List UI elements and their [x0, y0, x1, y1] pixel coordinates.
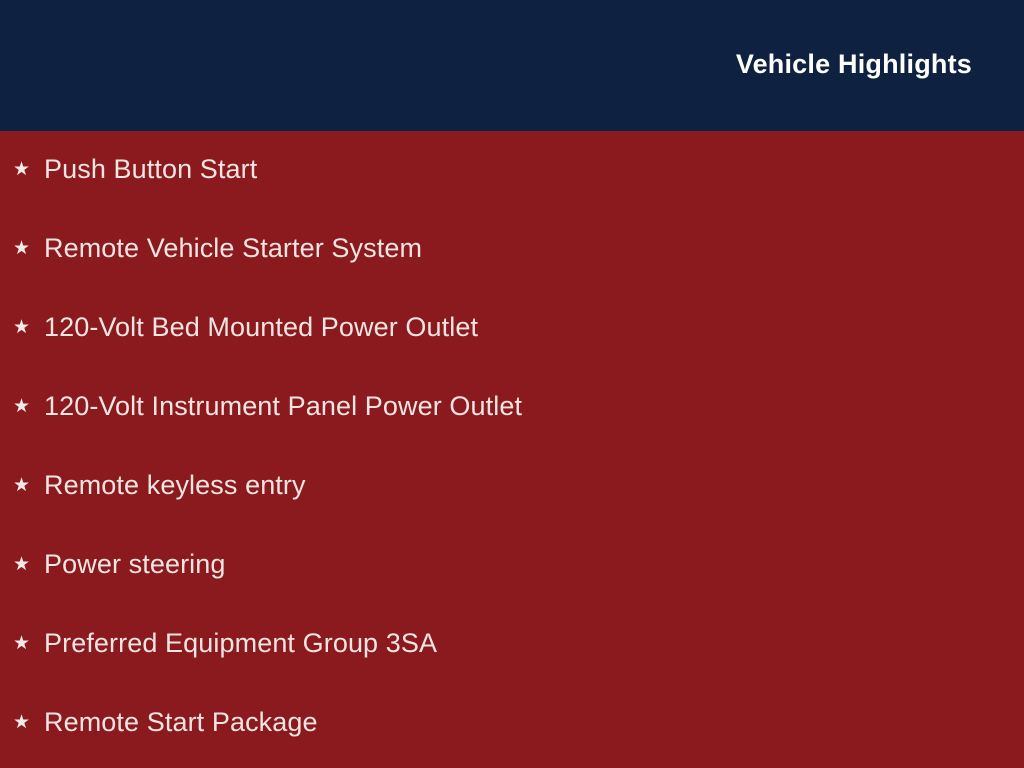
list-item-label: Power steering [44, 547, 226, 581]
list-item: ★ Remote Vehicle Starter System [13, 231, 422, 265]
page-title: Vehicle Highlights [736, 47, 972, 81]
list-item-label: Remote Start Package [44, 705, 318, 739]
list-item: ★ Remote Start Package [13, 705, 318, 739]
star-icon: ★ [13, 389, 44, 423]
list-item-label: Remote keyless entry [44, 468, 306, 502]
star-icon: ★ [13, 626, 44, 660]
star-icon: ★ [13, 310, 44, 344]
list-item: ★ Push Button Start [13, 152, 257, 186]
star-icon: ★ [13, 468, 44, 502]
list-item-label: 120-Volt Instrument Panel Power Outlet [44, 389, 522, 423]
header-bar: Vehicle Highlights [0, 0, 1024, 131]
list-item: ★ Remote keyless entry [13, 468, 306, 502]
star-icon: ★ [13, 547, 44, 581]
vehicle-highlights-list: ★ Push Button Start ★ Remote Vehicle Sta… [0, 131, 1024, 768]
list-item: ★ Preferred Equipment Group 3SA [13, 626, 437, 660]
list-item-label: 120-Volt Bed Mounted Power Outlet [44, 310, 478, 344]
list-item: ★ Power steering [13, 547, 226, 581]
list-item-label: Remote Vehicle Starter System [44, 231, 422, 265]
list-item-label: Preferred Equipment Group 3SA [44, 626, 437, 660]
list-item-label: Push Button Start [44, 152, 257, 186]
vehicle-highlights-slide: Vehicle Highlights ★ Push Button Start ★… [0, 0, 1024, 768]
list-item: ★ 120-Volt Bed Mounted Power Outlet [13, 310, 478, 344]
star-icon: ★ [13, 231, 44, 265]
star-icon: ★ [13, 152, 44, 186]
list-item: ★ 120-Volt Instrument Panel Power Outlet [13, 389, 522, 423]
star-icon: ★ [13, 705, 44, 739]
